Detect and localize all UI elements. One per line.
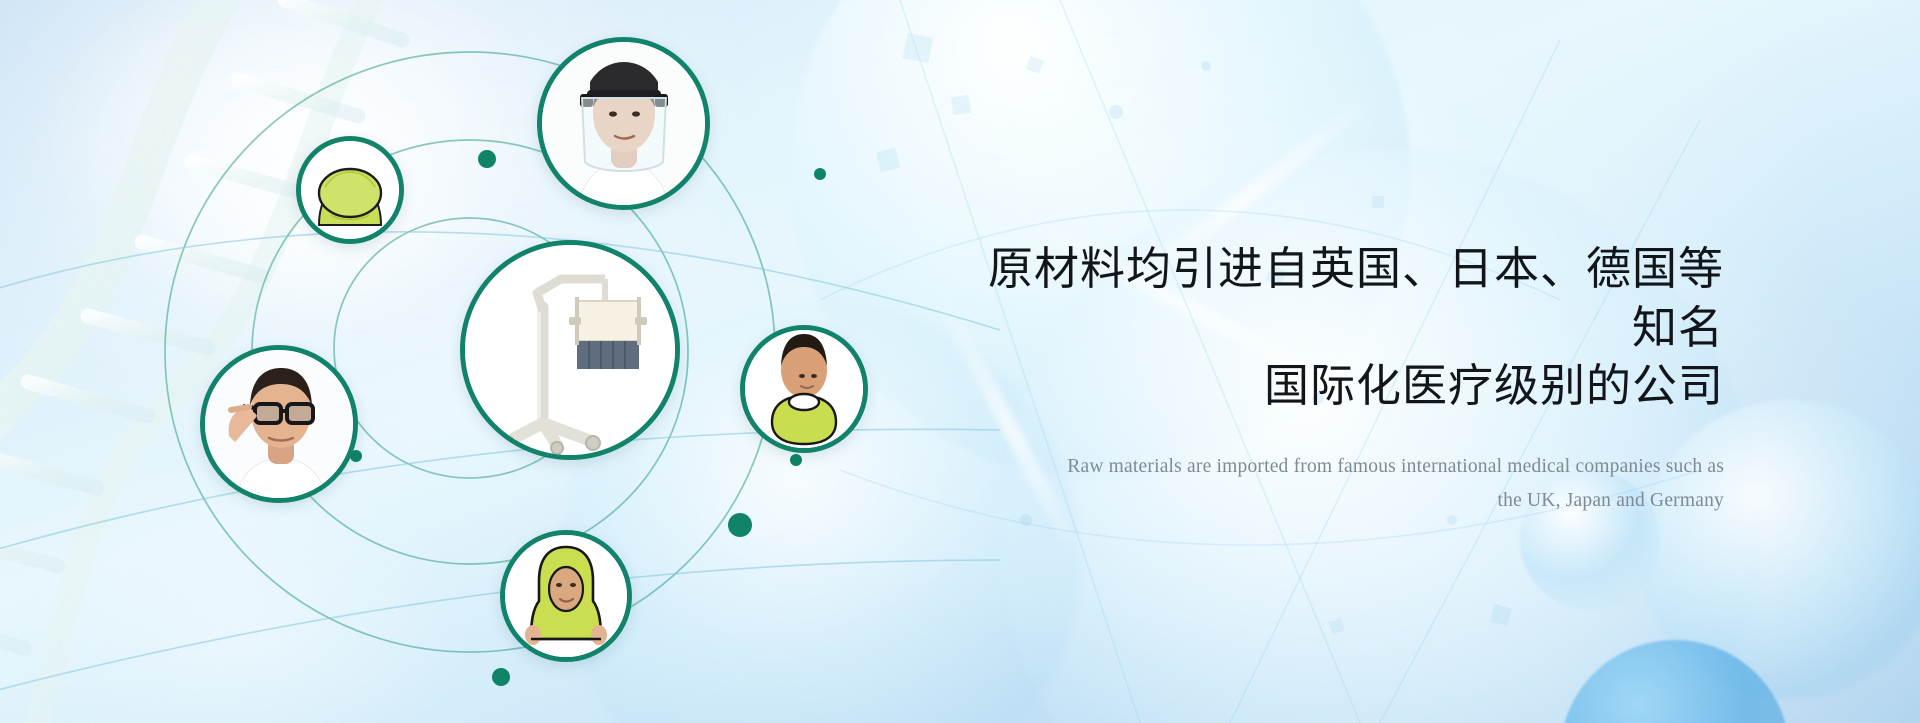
accent-dot-mid-right (728, 513, 752, 537)
subtitle: Raw materials are imported from famous i… (964, 450, 1724, 519)
subtitle-line-2: the UK, Japan and Germany (964, 484, 1724, 519)
radiation-hood-icon (505, 535, 627, 657)
accent-dot-bottom (492, 668, 510, 686)
headline-line-1: 原材料均引进自英国、日本、德国等知名 (988, 242, 1724, 354)
headline-line-2: 国际化医疗级别的公司 (964, 357, 1724, 416)
accent-dot-upper-right (814, 168, 826, 180)
product-bubble-thyroid-collar[interactable] (740, 325, 868, 453)
headline: 原材料均引进自英国、日本、德国等知名 国际化医疗级别的公司 (964, 240, 1724, 416)
hero-banner: 原材料均引进自英国、日本、德国等知名 国际化医疗级别的公司 Raw materi… (0, 0, 1920, 723)
accent-dot-top (478, 150, 496, 168)
copy-block: 原材料均引进自英国、日本、德国等知名 国际化医疗级别的公司 Raw materi… (964, 210, 1724, 539)
product-bubble-radiation-cap[interactable] (296, 136, 404, 244)
thyroid-collar-icon (745, 330, 863, 448)
product-bubble-mobile-radiation-shield[interactable] (460, 240, 680, 460)
radiation-cap-icon (301, 141, 399, 239)
face-shield-icon (542, 42, 705, 205)
accent-dot-right (790, 454, 802, 466)
product-bubble-face-shield[interactable] (537, 37, 710, 210)
protective-eyewear-icon (205, 350, 353, 498)
subtitle-line-1: Raw materials are imported from famous i… (1067, 456, 1724, 477)
molecule-sphere-blue (1560, 640, 1790, 723)
product-bubble-protective-eyewear[interactable] (200, 345, 358, 503)
mobile-radiation-shield-icon (465, 245, 675, 455)
product-bubble-radiation-hood[interactable] (500, 530, 632, 662)
